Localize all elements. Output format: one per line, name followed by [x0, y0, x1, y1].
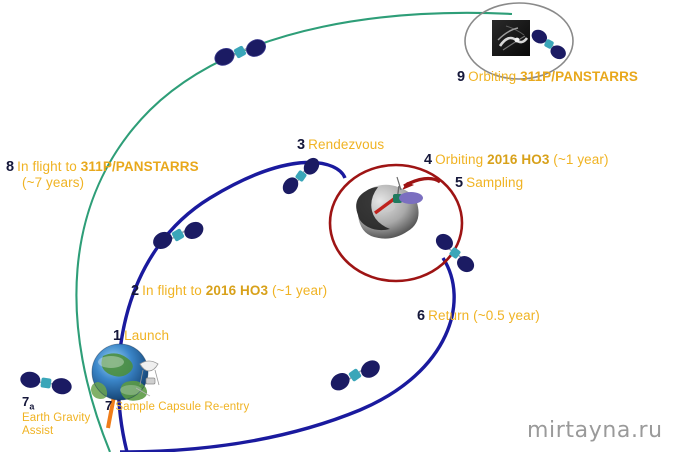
step-number-9: 9 — [457, 69, 465, 85]
step-text-4: Orbiting — [435, 152, 487, 167]
step-number-6: 6 — [417, 308, 425, 324]
spacecraft-layer — [0, 0, 700, 452]
orbit-ellipse-311p — [465, 3, 573, 79]
step-emphasis-4: 2016 HO3 — [487, 152, 549, 167]
trajectory-green-to-311p — [76, 13, 512, 452]
spacecraft-icon — [19, 370, 73, 395]
spacecraft-icon — [429, 231, 480, 276]
spacecraft-icon — [212, 30, 269, 75]
step-number-5: 5 — [455, 175, 463, 191]
mission-profile-diagram: 1Launch 2In flight to 2016 HO3 (~1 year)… — [0, 0, 700, 452]
step-label-7: 7Sample Capsule Re-entry — [105, 399, 249, 414]
sample-capsule — [136, 361, 159, 396]
step-text-1: Launch — [124, 328, 169, 343]
step-label-9: 9Orbiting 311P/PANSTARRS — [457, 70, 638, 86]
step-number-7a: 7a — [22, 394, 34, 409]
step-emphasis-8: 311P/PANSTARRS — [81, 159, 199, 174]
step-number-1: 1 — [113, 328, 121, 344]
step-number-2: 2 — [131, 283, 139, 299]
step-label-2: 2In flight to 2016 HO3 (~1 year) — [131, 284, 327, 300]
spacecraft-icon — [327, 351, 383, 400]
step-label-5: 5Sampling — [455, 176, 523, 192]
step-label-1: 1Launch — [113, 329, 169, 345]
step-text-5: Sampling — [466, 175, 523, 190]
step-line2-8: (~7 years) — [22, 176, 199, 191]
orbit-circle-2016ho3 — [330, 165, 462, 281]
step-text-7a: Earth Gravity Assist — [22, 412, 92, 438]
step-text-7: Sample Capsule Re-entry — [115, 401, 249, 413]
trajectory-layer — [0, 0, 700, 452]
watermark: mirtayna.ru — [527, 418, 663, 443]
comet-311p-image — [492, 20, 530, 56]
step-number-8: 8 — [6, 159, 14, 175]
spacecraft-icon — [280, 151, 323, 200]
step-text-9: Orbiting — [468, 69, 520, 84]
step-tail-2: (~1 year) — [268, 283, 327, 298]
step-label-8: 8In flight to 311P/PANSTARRS (~7 years) — [6, 160, 199, 190]
step-number-4: 4 — [424, 152, 432, 168]
earth-object — [91, 344, 148, 401]
step-emphasis-9: 311P/PANSTARRS — [520, 69, 638, 84]
step-label-4: 4Orbiting 2016 HO3 (~1 year) — [424, 153, 609, 169]
spacecraft-icon — [150, 212, 207, 258]
step-label-7a: 7aEarth Gravity Assist — [22, 395, 92, 437]
step-number-3: 3 — [297, 137, 305, 153]
step-label-6: 6Return (~0.5 year) — [417, 309, 540, 325]
step-text-3: Rendezvous — [308, 137, 384, 152]
step-text-2: In flight to — [142, 283, 206, 298]
orbit-direction-arrow — [404, 179, 440, 186]
step-number-7: 7 — [105, 398, 112, 413]
orbit-direction-arrowhead — [402, 182, 414, 190]
step-tail-4: (~1 year) — [549, 152, 608, 167]
spacecraft-icon — [527, 27, 571, 62]
step-text-8: In flight to — [17, 159, 81, 174]
asteroid-2016ho3 — [356, 177, 423, 239]
trajectory-orange-reentry — [108, 355, 120, 428]
step-emphasis-2: 2016 HO3 — [206, 283, 268, 298]
step-label-3: 3Rendezvous — [297, 138, 384, 154]
sampler-spacecraft — [393, 177, 423, 204]
step-text-6: Return (~0.5 year) — [428, 308, 540, 323]
